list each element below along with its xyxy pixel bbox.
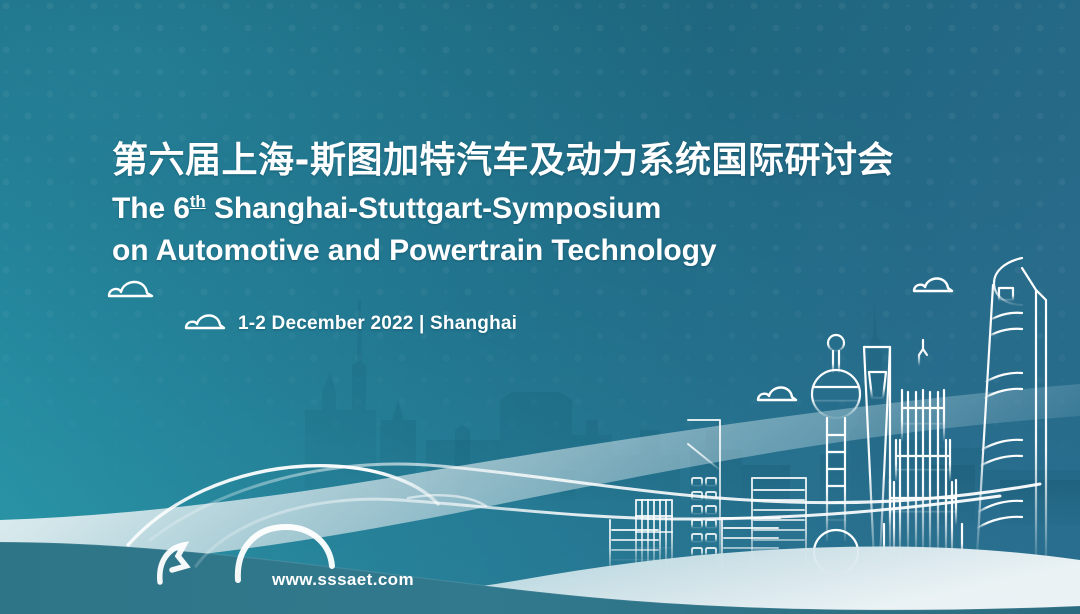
event-date-location: 1-2 December 2022 | Shanghai [238, 313, 517, 335]
title-english-suffix: Shanghai-Stuttgart-Symposium [206, 192, 661, 225]
car-outline-icon [0, 0, 1080, 614]
title-english-line-2: on Automotive and Powertrain Technology [112, 230, 716, 272]
ordinal-suffix: th [190, 192, 206, 211]
page-title-english: The 6th Shanghai-Stuttgart-Symposium on … [112, 188, 716, 272]
page-title-chinese: 第六届上海-斯图加特汽车及动力系统国际研讨会 [112, 140, 894, 182]
website-url[interactable]: www.sssaet.com [272, 570, 414, 590]
event-poster: 第六届上海-斯图加特汽车及动力系统国际研讨会 The 6th Shanghai-… [0, 0, 1080, 614]
title-english-line-1: The 6th Shanghai-Stuttgart-Symposium [112, 188, 716, 230]
title-english-prefix: The 6 [112, 192, 190, 225]
